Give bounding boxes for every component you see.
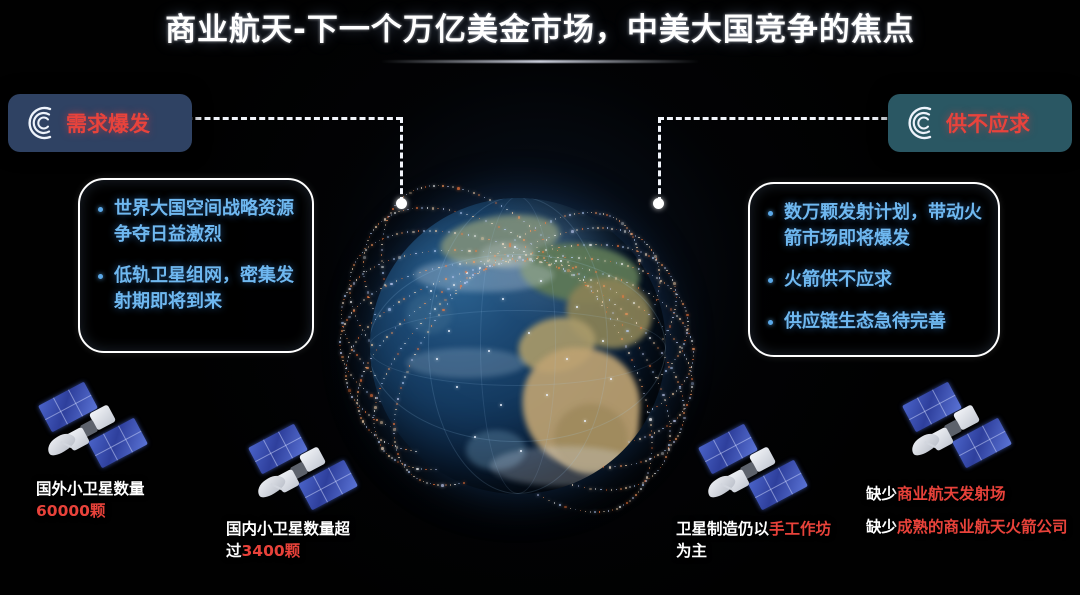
- caption-text: 国外小卫星数量: [36, 480, 145, 498]
- bullet-text: 世界大国空间战略资源争夺日益激烈: [114, 196, 296, 247]
- bullet-dot-icon: [768, 211, 773, 216]
- satellite-icon-left: [246, 428, 356, 520]
- caption-highlight: 手工作坊: [769, 520, 831, 538]
- caption-text: 卫星制造仍以: [676, 520, 769, 538]
- badge-supply-shortage[interactable]: 供不应求: [888, 94, 1072, 152]
- bullet-dot-icon: [98, 274, 103, 279]
- page-title: 商业航天-下一个万亿美金市场，中美大国竞争的焦点: [0, 4, 1080, 49]
- caption-text: 国内小卫星数量超: [226, 520, 350, 538]
- bullet-text: 供应链生态急待完善: [784, 309, 946, 335]
- title-divider: [380, 60, 700, 63]
- caption-right: 卫星制造仍以手工作坊 为主: [676, 518, 886, 563]
- info-box-supply: 数万颗发射计划，带动火箭市场即将爆发 火箭供不应求 供应链生态急待完善: [748, 182, 1000, 357]
- caption-far-right: 缺少商业航天发射场 缺少成熟的商业航天火箭公司: [866, 478, 1080, 543]
- bullet-text: 火箭供不应求: [784, 267, 892, 293]
- list-item: 火箭供不应求: [764, 267, 982, 293]
- satellite-icon-right: [696, 428, 806, 520]
- concentric-c-logo-icon: [896, 100, 942, 146]
- caption-highlight: 商业航天发射场: [897, 485, 1006, 503]
- caption-highlight: 3400颗: [242, 542, 301, 560]
- caption-text: 缺少: [866, 518, 897, 536]
- list-item: 数万颗发射计划，带动火箭市场即将爆发: [764, 200, 982, 251]
- satellite-icon-far-right: [900, 386, 1020, 486]
- bullet-dot-icon: [98, 207, 103, 212]
- bullet-dot-icon: [768, 320, 773, 325]
- caption-highlight: 60000颗: [36, 502, 105, 520]
- slide-canvas: 商业航天-下一个万亿美金市场，中美大国竞争的焦点: [0, 0, 1080, 595]
- bullet-dot-icon: [768, 278, 773, 283]
- bullet-text: 数万颗发射计划，带动火箭市场即将爆发: [784, 200, 982, 251]
- list-item: 低轨卫星组网，密集发射期即将到来: [94, 263, 296, 314]
- info-box-demand: 世界大国空间战略资源争夺日益激烈 低轨卫星组网，密集发射期即将到来: [78, 178, 314, 353]
- caption-text: 为主: [676, 542, 707, 560]
- list-item: 供应链生态急待完善: [764, 309, 982, 335]
- badge-right-label: 供不应求: [946, 108, 1030, 138]
- caption-far-left: 国外小卫星数量 60000颗: [36, 478, 226, 523]
- bullet-text: 低轨卫星组网，密集发射期即将到来: [114, 263, 296, 314]
- concentric-c-logo-icon: [16, 100, 62, 146]
- caption-highlight: 成熟的商业航天火箭公司: [897, 518, 1068, 536]
- list-item: 世界大国空间战略资源争夺日益激烈: [94, 196, 296, 247]
- caption-left: 国内小卫星数量超 过3400颗: [226, 518, 426, 563]
- caption-text: 过: [226, 542, 242, 560]
- caption-text: 缺少: [866, 485, 897, 503]
- badge-left-label: 需求爆发: [66, 108, 150, 138]
- satellite-icon-far-left: [36, 386, 156, 486]
- badge-demand-explosion[interactable]: 需求爆发: [8, 94, 192, 152]
